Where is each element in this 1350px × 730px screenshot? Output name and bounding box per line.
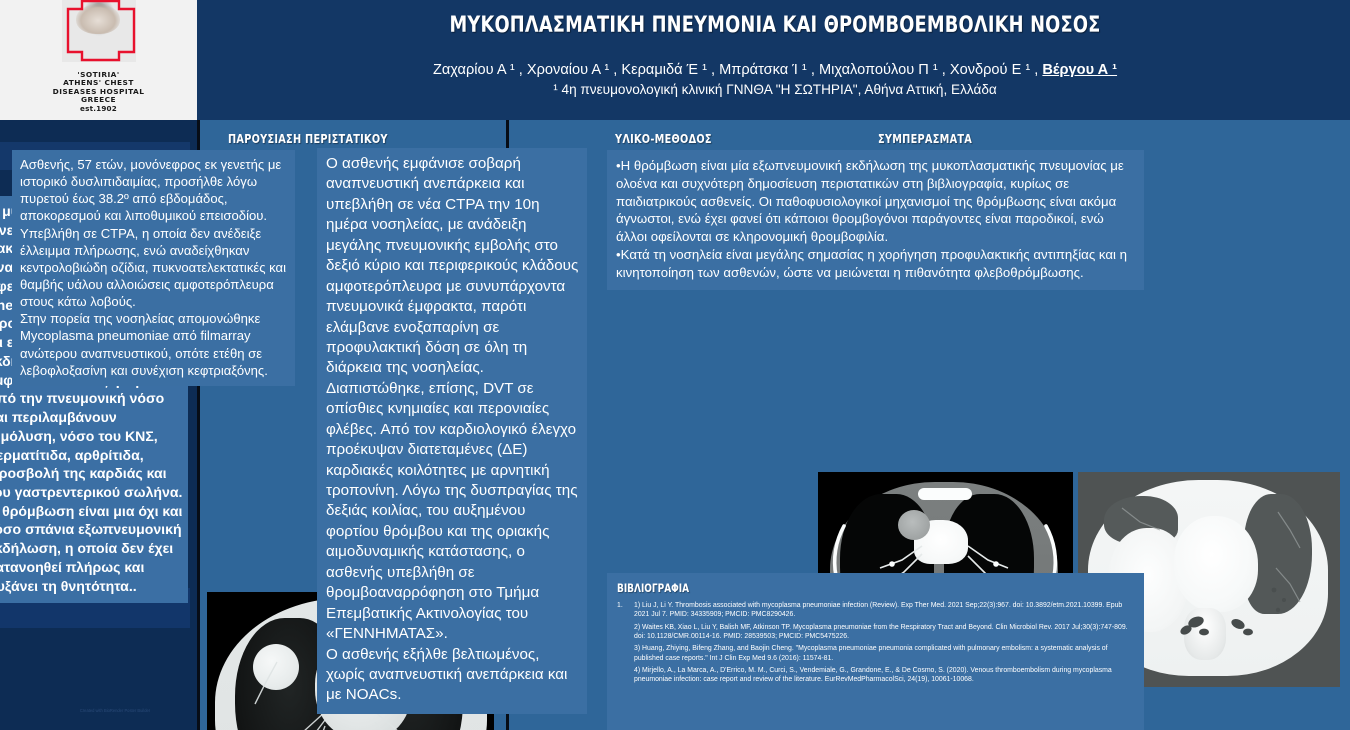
conclusion-bullet-2: •Κατά τη νοσηλεία είναι μεγάλης σημασίας… (616, 246, 1135, 282)
poster-title: ΜΥΚΟΠΛΑΣΜΑΤΙΚΗ ΠΝΕΥΜΟΝΙΑ ΚΑΙ ΘΡΟΜΒΟΕΜΒΟΛ… (273, 12, 1276, 38)
authors-coauthors: Ζαχαρίου Α ¹ , Χροναίου Α ¹ , Κεραμιδά Έ… (433, 62, 1042, 78)
bib-text: 2) Waites KB, Xiao L, Liu Y, Balish MF, … (634, 624, 1128, 640)
bibliography-panel: ΒΙΒΛΙΟΓΡΑΦΙΑ 1. 1) Liu J, Li Y. Thrombos… (607, 573, 1144, 730)
poster-body: ΕΙΣΑΓΩΓΗ Η μυκοπλασματική πνευμονία είνα… (0, 120, 1350, 730)
section-heading-conclusions: ΣΥΜΠΕΡΑΣΜΑΤΑ (878, 131, 972, 146)
conclusion-bullet-1: •Η θρόμβωση είναι μία εξωπνευμονική εκδή… (616, 157, 1135, 246)
section-heading-bibliography: ΒΙΒΛΙΟΓΡΑΦΙΑ (617, 581, 1065, 595)
bib-number: 1. (617, 601, 623, 610)
bibliography-list: 1. 1) Liu J, Li Y. Thrombosis associated… (617, 601, 1138, 684)
bib-text: 1) Liu J, Li Y. Thrombosis associated wi… (634, 602, 1122, 618)
hospital-logo: 'SOTIRIA' ATHENS' CHEST DISEASES HOSPITA… (0, 0, 197, 120)
author-presenting: Βέργου Α ¹ (1042, 62, 1117, 78)
bib-text: 3) Huang, Zhiying, Bifeng Zhang, and Bao… (634, 645, 1108, 661)
bibliography-item: 2) Waites KB, Xiao L, Liu Y, Balish MF, … (617, 623, 1138, 641)
section-heading-case: ΠΑΡΟΥΣΙΑΣΗ ΠΕΡΙΣΤΑΤΙΚΟΥ (228, 131, 388, 146)
red-cross-icon (35, 0, 163, 64)
logo-artwork (35, 0, 163, 70)
bibliography-item: 1. 1) Liu J, Li Y. Thrombosis associated… (617, 601, 1138, 619)
section-body-conclusions: •Η θρόμβωση είναι μία εξωπνευμονική εκδή… (607, 150, 1144, 290)
poster-header: 'SOTIRIA' ATHENS' CHEST DISEASES HOSPITA… (0, 0, 1350, 120)
logo-established: est.1902 (53, 105, 145, 113)
poster-footer-credit: Created with BioRender Poster Builder (40, 708, 190, 714)
affiliation: ¹ 4η πνευμονολογική κλινική ΓΝΝΘΑ "Η ΣΩΤ… (205, 82, 1345, 97)
section-body-case: Ασθενής, 57 ετών, μονόνεφρος εκ γενετής … (12, 150, 295, 386)
logo-text-block: 'SOTIRIA' ATHENS' CHEST DISEASES HOSPITA… (53, 71, 145, 113)
author-list: Ζαχαρίου Α ¹ , Χροναίου Α ¹ , Κεραμιδά Έ… (205, 60, 1345, 81)
section-heading-methods: ΥΛΙΚΟ-ΜΕΘΟΔΟΣ (615, 131, 712, 146)
bibliography-item: 3) Huang, Zhiying, Bifeng Zhang, and Bao… (617, 644, 1138, 662)
bib-text: 4) Mirjello, A., La Marca, A., D'Errico,… (634, 667, 1112, 683)
bibliography-item: 4) Mirjello, A., La Marca, A., D'Errico,… (617, 666, 1138, 684)
section-body-methods: Ο ασθενής εμφάνισε σοβαρή αναπνευστική α… (317, 148, 587, 714)
poster-canvas: 'SOTIRIA' ATHENS' CHEST DISEASES HOSPITA… (0, 0, 1350, 730)
